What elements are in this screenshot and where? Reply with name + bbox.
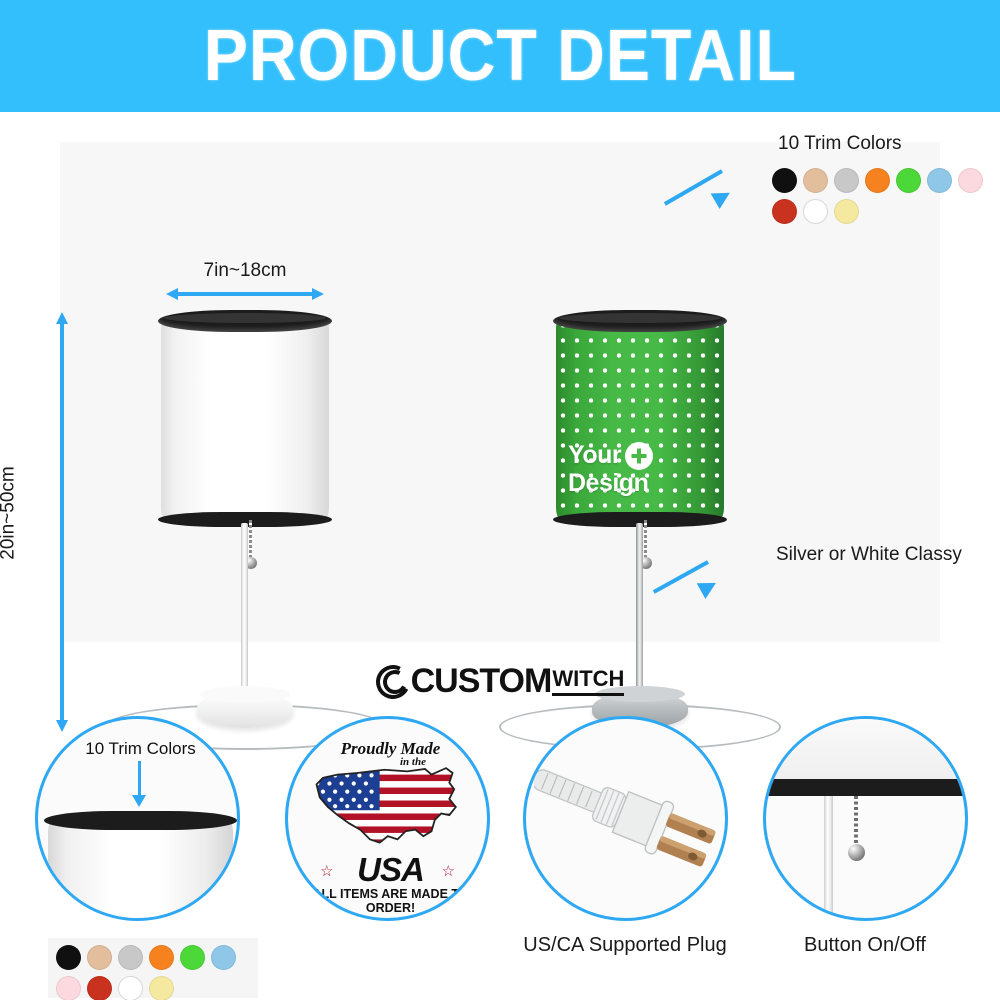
page-banner: PRODUCT DETAIL [0, 0, 1000, 112]
shade-design-line1: Your [568, 441, 621, 469]
brand-logo: CUSTOM WITCH [0, 662, 1000, 701]
trim-swatch-white[interactable] [118, 976, 143, 1000]
trim-swatch-green[interactable] [180, 945, 205, 970]
shade-closeup-trim [763, 779, 968, 796]
logo-primary-text: CUSTOM [411, 662, 552, 701]
trim-swatch-pale-yellow[interactable] [834, 199, 859, 224]
made-in-usa-feature: Proudly Made in the [262, 712, 512, 1000]
switch-feature: Button On/Off [740, 712, 990, 1000]
feature-caption: US/CA Supported Plug [500, 934, 750, 957]
trim-swatch-light-blue[interactable] [211, 945, 236, 970]
height-dimension-label: 20in~50cm [0, 466, 20, 559]
shade-surface [161, 318, 329, 518]
usa-badge-top-text: Proudly Made [288, 739, 490, 759]
shade-top-trim [158, 310, 332, 332]
trim-swatch-white[interactable] [803, 199, 828, 224]
shade-closeup-surface [48, 819, 233, 921]
trim-swatch-orange[interactable] [865, 168, 890, 193]
width-dimension-arrow [166, 288, 324, 300]
pull-chain-closeup[interactable] [854, 796, 858, 846]
feature-arrow-line [138, 761, 141, 797]
feature-circle: Proudly Made in the [285, 716, 490, 921]
trim-swatch-tan[interactable] [803, 168, 828, 193]
trim-swatch-black[interactable] [772, 168, 797, 193]
trim-swatch-pale-yellow[interactable] [149, 976, 174, 1000]
feature-arrow-head [132, 795, 146, 807]
shade-closeup-trim [44, 811, 237, 830]
feature-caption: Button On/Off [740, 934, 990, 957]
lamp-shade-green: Your Design [556, 310, 724, 525]
usa-badge-word: USA [288, 851, 490, 889]
trim-colors-callout-label: 10 Trim Colors [778, 133, 902, 155]
feature-circle [763, 716, 968, 921]
main-product-stage: 20in~50cm 7in~18cm [0, 112, 1000, 657]
shade-design-text: Your Design [568, 442, 716, 497]
pull-chain[interactable] [644, 520, 647, 558]
trim-swatch-tan[interactable] [87, 945, 112, 970]
plus-icon [625, 442, 653, 470]
usa-badge-subtext: ALL ITEMS ARE MADE TO ORDER! [288, 887, 490, 915]
trim-swatch-green[interactable] [896, 168, 921, 193]
trim-swatch-pink[interactable] [56, 976, 81, 1000]
trim-swatch-black[interactable] [56, 945, 81, 970]
pull-chain-ball-closeup[interactable] [848, 844, 865, 861]
usa-star-right-icon: ☆ [442, 862, 455, 880]
lamp-shade-white [161, 310, 329, 525]
trim-swatch-pink[interactable] [958, 168, 983, 193]
feature-inner-label: 10 Trim Colors [38, 739, 240, 759]
usa-map-flag-icon [310, 761, 472, 853]
trim-swatch-red[interactable] [87, 976, 112, 1000]
trim-color-swatch-row-top[interactable] [772, 168, 1000, 224]
trim-swatch-gray[interactable] [118, 945, 143, 970]
page-title: PRODUCT DETAIL [203, 15, 796, 97]
feature-circle: 10 Trim Colors [35, 716, 240, 921]
trim-swatch-light-blue[interactable] [927, 168, 952, 193]
power-plug-icon [534, 749, 724, 899]
trim-swatch-orange[interactable] [149, 945, 174, 970]
trim-swatch-gray[interactable] [834, 168, 859, 193]
shade-top-trim [553, 310, 727, 332]
trim-color-swatch-row-bottom[interactable] [56, 945, 252, 1000]
plug-feature: US/CA Supported Plug [500, 712, 750, 1000]
base-finish-callout-label: Silver or White Classy [776, 544, 962, 566]
product-detail-page: PRODUCT DETAIL 20in~50cm 7in~18cm [0, 0, 1000, 1000]
shade-closeup-surface [763, 716, 968, 781]
logo-secondary-text: WITCH [552, 666, 624, 696]
width-dimension-label: 7in~18cm [166, 260, 324, 282]
feature-circle [523, 716, 728, 921]
logo-c-mark-icon [376, 665, 410, 699]
pull-chain[interactable] [249, 520, 252, 558]
shade-design-line2: Design [568, 469, 648, 497]
trim-swatch-red[interactable] [772, 199, 797, 224]
lamp-pole-closeup [824, 796, 833, 921]
